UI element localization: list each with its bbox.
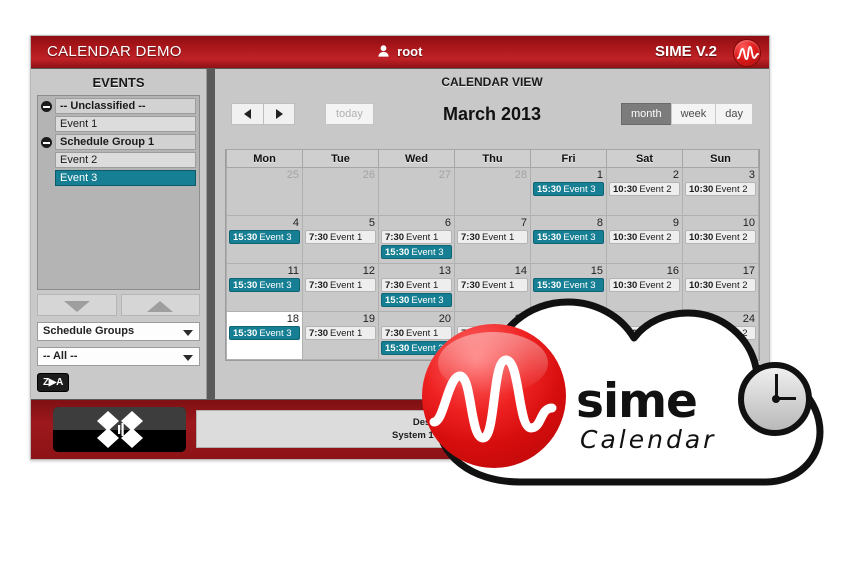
event-time: 7:30 xyxy=(458,231,482,244)
event-time: 7:30 xyxy=(382,231,406,244)
day-number: 10 xyxy=(683,216,758,229)
event-time: 15:30 xyxy=(534,231,563,244)
tree-item-label: Event 2 xyxy=(55,152,196,168)
calendar-week-row: 25262728115:30Event 3210:30Event 2310:30… xyxy=(227,168,759,216)
day-number: 3 xyxy=(683,168,758,181)
event-name: Event 1 xyxy=(482,231,517,244)
day-number: 17 xyxy=(683,264,758,277)
day-number: 8 xyxy=(531,216,606,229)
event-time: 15:30 xyxy=(382,246,411,259)
calendar-toolbar: today March 2013 month week day xyxy=(225,101,759,135)
event-name: Event 1 xyxy=(330,279,365,292)
screenshot-root: CALENDAR DEMO root SIME V.2 xyxy=(0,0,860,562)
view-button-month[interactable]: month xyxy=(621,103,671,125)
calendar-day-cell[interactable]: 1115:30Event 3 xyxy=(227,264,303,312)
calendar-event-chip[interactable]: 10:30Event 2 xyxy=(609,182,680,196)
event-name: Event 3 xyxy=(411,246,446,259)
event-time: 7:30 xyxy=(306,327,330,340)
calendar-day-cell[interactable]: 77:30Event 1 xyxy=(455,216,531,264)
events-scroll-controls xyxy=(37,294,200,316)
collapse-minus-icon[interactable] xyxy=(41,101,52,112)
calendar-event-chip[interactable]: 15:30Event 3 xyxy=(533,230,604,244)
day-number: 7 xyxy=(455,216,530,229)
event-time: 10:30 xyxy=(610,183,639,196)
event-time: 7:30 xyxy=(306,231,330,244)
calendar-event-chip[interactable]: 10:30Event 2 xyxy=(685,182,756,196)
event-name: Event 2 xyxy=(715,231,750,244)
event-name: Event 2 xyxy=(715,183,750,196)
day-number: 14 xyxy=(455,264,530,277)
weekday-header: Sat xyxy=(607,150,683,168)
event-name: Event 3 xyxy=(563,183,598,196)
calendar-event-chip[interactable]: 15:30Event 3 xyxy=(381,245,452,259)
event-name: Event 2 xyxy=(639,183,674,196)
calendar-event-chip[interactable]: 7:30Event 1 xyxy=(381,230,452,244)
cloud-brand-text: sime xyxy=(576,374,697,429)
day-number: 2 xyxy=(607,168,682,181)
event-name: Event 1 xyxy=(330,327,365,340)
scroll-up-button[interactable] xyxy=(121,294,201,316)
day-number: 15 xyxy=(531,264,606,277)
tree-event-row-selected[interactable]: Event 3 xyxy=(41,170,196,187)
calendar-event-chip[interactable]: 7:30Event 1 xyxy=(305,230,376,244)
calendar-event-chip[interactable]: 7:30Event 1 xyxy=(305,326,376,340)
day-number: 19 xyxy=(303,312,378,325)
day-number: 26 xyxy=(303,168,378,181)
event-name: Event 2 xyxy=(639,231,674,244)
event-time: 7:30 xyxy=(306,279,330,292)
event-name: Event 1 xyxy=(330,231,365,244)
calendar-day-cell[interactable]: 210:30Event 2 xyxy=(607,168,683,216)
tree-event-row[interactable]: Event 1 xyxy=(41,116,196,133)
weekday-header: Fri xyxy=(531,150,607,168)
chevron-down-icon xyxy=(183,355,193,361)
schedule-groups-select[interactable]: Schedule Groups xyxy=(37,322,200,341)
day-number: 12 xyxy=(303,264,378,277)
waveform-icon xyxy=(422,324,566,468)
weekday-header: Sun xyxy=(683,150,759,168)
sort-za-button[interactable]: Z▶A xyxy=(37,373,69,392)
day-number: 25 xyxy=(227,168,302,181)
schedule-groups-value: Schedule Groups xyxy=(43,325,134,337)
calendar-day-cell[interactable]: 415:30Event 3 xyxy=(227,216,303,264)
tree-item-label: Event 1 xyxy=(55,116,196,132)
event-time: 15:30 xyxy=(230,231,259,244)
weekday-header: Wed xyxy=(379,150,455,168)
day-number: 11 xyxy=(227,264,302,277)
sime-waveform-icon[interactable] xyxy=(733,39,761,67)
app-version: SIME V.2 xyxy=(655,43,717,60)
tree-group-row[interactable]: Schedule Group 1 xyxy=(41,134,196,151)
event-time: 15:30 xyxy=(230,279,259,292)
calendar-day-cell[interactable]: 1010:30Event 2 xyxy=(683,216,759,264)
calendar-event-chip[interactable]: 15:30Event 3 xyxy=(229,278,300,292)
view-button-day[interactable]: day xyxy=(715,103,753,125)
clock-icon xyxy=(738,362,812,436)
calendar-event-chip[interactable]: 15:30Event 3 xyxy=(229,326,300,340)
tree-group-row[interactable]: -- Unclassified -- xyxy=(41,98,196,115)
title-bar: CALENDAR DEMO root SIME V.2 xyxy=(31,36,769,69)
event-time: 10:30 xyxy=(686,231,715,244)
calendar-event-chip[interactable]: 7:30Event 1 xyxy=(305,278,376,292)
tree-item-label: Schedule Group 1 xyxy=(55,134,196,150)
event-name: Event 3 xyxy=(563,231,598,244)
day-number: 5 xyxy=(303,216,378,229)
calendar-event-chip[interactable]: 15:30Event 3 xyxy=(533,182,604,196)
calendar-day-cell[interactable]: 815:30Event 3 xyxy=(531,216,607,264)
calendar-day-cell[interactable]: 57:30Event 1 xyxy=(303,216,379,264)
triangle-down-icon xyxy=(64,301,90,312)
scroll-down-button[interactable] xyxy=(37,294,117,316)
cloud-product-text: Calendar xyxy=(580,425,716,454)
day-number: 4 xyxy=(227,216,302,229)
triangle-up-icon xyxy=(147,301,173,312)
calendar-day-cell[interactable]: 115:30Event 3 xyxy=(531,168,607,216)
view-switcher: month week day xyxy=(621,103,753,125)
event-name: Event 3 xyxy=(259,279,294,292)
calendar-day-cell[interactable]: 67:30Event 115:30Event 3 xyxy=(379,216,455,264)
calendar-day-cell[interactable]: 197:30Event 1 xyxy=(303,312,379,360)
calendar-day-cell[interactable]: 26 xyxy=(303,168,379,216)
day-number: 28 xyxy=(455,168,530,181)
calendar-day-cell[interactable]: 310:30Event 2 xyxy=(683,168,759,216)
calendar-event-chip[interactable]: 10:30Event 2 xyxy=(609,230,680,244)
tree-item-label: -- Unclassified -- xyxy=(55,98,196,114)
all-filter-value: -- All -- xyxy=(43,350,77,362)
calendar-day-cell[interactable]: 1815:30Event 3 xyxy=(227,312,303,360)
view-button-week[interactable]: week xyxy=(671,103,716,125)
calendar-view-heading: CALENDAR VIEW xyxy=(215,69,769,89)
calendar-day-cell[interactable]: 25 xyxy=(227,168,303,216)
calendar-event-chip[interactable]: 15:30Event 3 xyxy=(229,230,300,244)
events-tree-list[interactable]: -- Unclassified -- Event 1 Schedule Grou… xyxy=(37,95,200,290)
day-number: 9 xyxy=(607,216,682,229)
sime-calendar-cloud-logo: sime Calendar xyxy=(400,286,860,501)
event-name: Event 3 xyxy=(259,327,294,340)
user-name: root xyxy=(397,44,422,59)
user-icon xyxy=(378,45,389,60)
events-heading: EVENTS xyxy=(31,69,206,95)
calendar-day-cell[interactable]: 28 xyxy=(455,168,531,216)
calendar-day-cell[interactable]: 127:30Event 1 xyxy=(303,264,379,312)
day-number: 18 xyxy=(227,312,302,325)
event-time: 15:30 xyxy=(534,183,563,196)
weekday-header: Tue xyxy=(303,150,379,168)
collapse-minus-icon[interactable] xyxy=(41,137,52,148)
calendar-day-cell[interactable]: 27 xyxy=(379,168,455,216)
calendar-day-cell[interactable]: 910:30Event 2 xyxy=(607,216,683,264)
day-number: 13 xyxy=(379,264,454,277)
event-time: 15:30 xyxy=(230,327,259,340)
calendar-week-row: 415:30Event 357:30Event 167:30Event 115:… xyxy=(227,216,759,264)
weekday-header: Mon xyxy=(227,150,303,168)
calendar-event-chip[interactable]: 10:30Event 2 xyxy=(685,230,756,244)
weekday-header: Thu xyxy=(455,150,531,168)
day-number: 16 xyxy=(607,264,682,277)
all-filter-select[interactable]: -- All -- xyxy=(37,347,200,366)
chevron-down-icon xyxy=(183,330,193,336)
event-time: 10:30 xyxy=(610,231,639,244)
event-name: Event 1 xyxy=(406,231,441,244)
day-number: 6 xyxy=(379,216,454,229)
day-number: 1 xyxy=(531,168,606,181)
four-diamonds-logo xyxy=(53,407,186,452)
event-time: 10:30 xyxy=(686,183,715,196)
tree-event-row[interactable]: Event 2 xyxy=(41,152,196,169)
event-name: Event 3 xyxy=(259,231,294,244)
weekday-header-row: Mon Tue Wed Thu Fri Sat Sun xyxy=(227,150,759,168)
tree-item-label: Event 3 xyxy=(55,170,196,186)
day-number: 27 xyxy=(379,168,454,181)
events-sidebar: EVENTS -- Unclassified -- Event 1 Schedu… xyxy=(31,69,207,399)
calendar-event-chip[interactable]: 7:30Event 1 xyxy=(457,230,528,244)
